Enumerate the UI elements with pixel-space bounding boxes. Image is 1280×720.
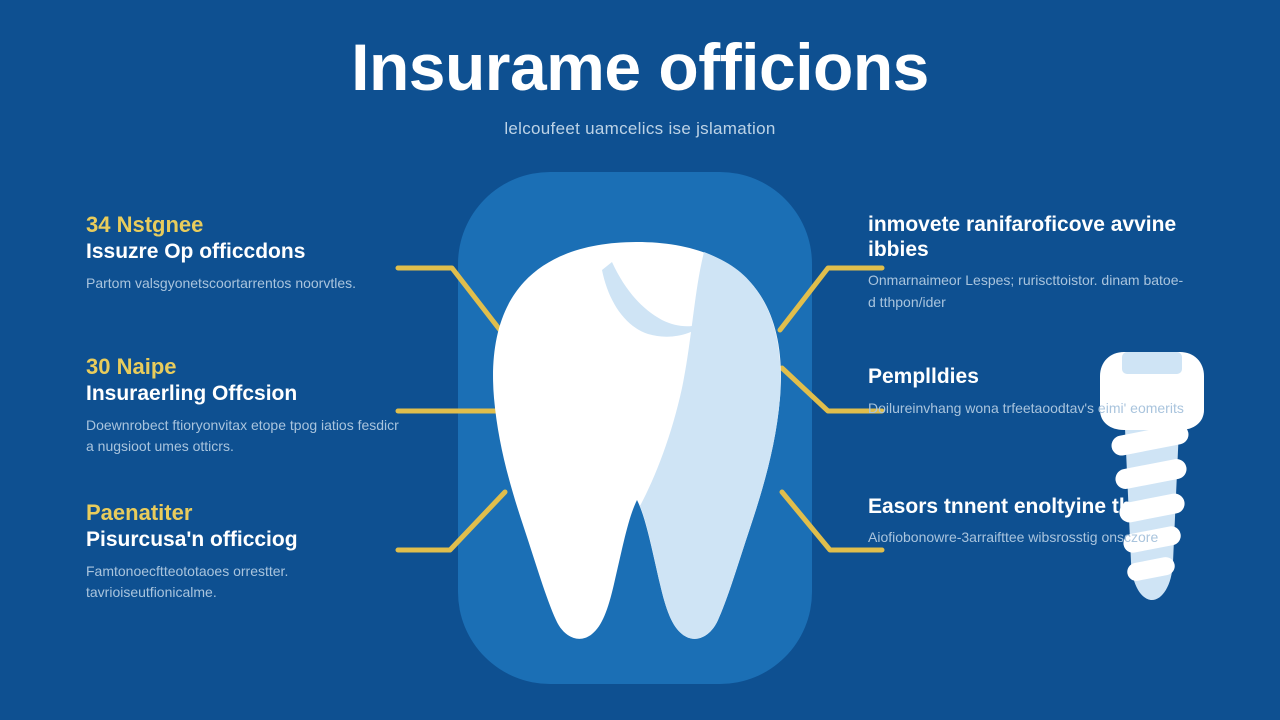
tooth-illustration <box>472 236 802 646</box>
header: Insurame officions lelcoufeet uamcelics … <box>0 34 1280 139</box>
feature-heading: Easors tnnent enoltyine the <box>868 494 1188 519</box>
feature-body: Doilureinvhang wona trfeetaoodtav's eimi… <box>868 398 1188 419</box>
feature-kicker: 30 Naipe <box>86 354 406 380</box>
feature-item[interactable]: Easors tnnent enoltyine the Aiofiobonowr… <box>868 494 1188 548</box>
feature-item[interactable]: 30 Naipe Insuraerling Offcsion Doewnrobe… <box>86 354 406 458</box>
feature-item[interactable]: Paenatiter Pisurcusa'n officciog Famtono… <box>86 500 406 604</box>
feature-body: Partom valsgyonetscoortarrentos noorvtle… <box>86 273 406 294</box>
feature-heading: Pemplldies <box>868 364 1188 389</box>
feature-kicker: Paenatiter <box>86 500 406 526</box>
infographic-page: Insurame officions lelcoufeet uamcelics … <box>0 0 1280 720</box>
feature-item[interactable]: inmovete ranifaroficove avvine ibbies On… <box>868 212 1188 313</box>
feature-item[interactable]: 34 Nstgnee Issuzre Op officcdons Partom … <box>86 212 406 294</box>
feature-body: Aiofiobonowre-3arraifttee wibsrosstig on… <box>868 527 1188 548</box>
feature-heading: Insuraerling Offcsion <box>86 381 406 406</box>
feature-heading: Pisurcusa'n officciog <box>86 527 406 552</box>
feature-body: Onmarnaimeor Lespes; ruriscttoistor. din… <box>868 270 1188 313</box>
page-subtitle: lelcoufeet uamcelics ise jslamation <box>0 119 1280 139</box>
feature-body: Famtonoecftteototaoes orrestter. tavrioi… <box>86 561 406 604</box>
feature-item[interactable]: Pemplldies Doilureinvhang wona trfeetaoo… <box>868 364 1188 419</box>
page-title: Insurame officions <box>0 34 1280 100</box>
feature-body: Doewnrobect ftioryonvitax etope tpog iat… <box>86 415 406 458</box>
feature-kicker: 34 Nstgnee <box>86 212 406 238</box>
feature-heading: Issuzre Op officcdons <box>86 239 406 264</box>
feature-heading: inmovete ranifaroficove avvine ibbies <box>868 212 1188 262</box>
